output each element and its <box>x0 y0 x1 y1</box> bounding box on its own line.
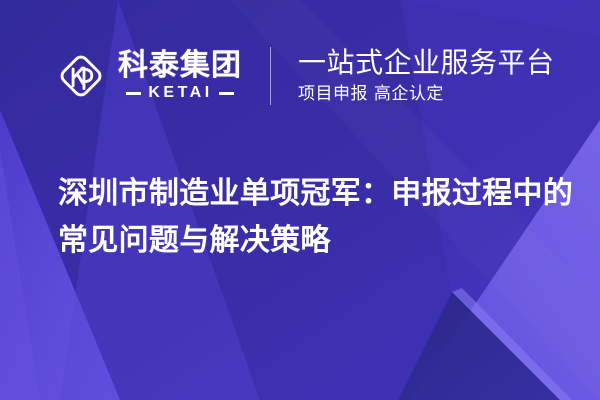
page-title: 深圳市制造业单项冠军：申报过程中的常见问题与解决策略 <box>58 170 578 264</box>
logo-latin-row: KETAI <box>118 84 242 102</box>
header-divider <box>270 47 271 105</box>
logo-dash-right <box>219 92 234 95</box>
tagline-secondary: 项目申报 高企认定 <box>298 83 555 105</box>
logo-company-name-latin: KETAI <box>141 84 218 102</box>
promo-banner: 科泰集团 KETAI 一站式企业服务平台 项目申报 高企认定 深圳市制造业单项冠… <box>0 0 600 400</box>
logo-dash-left <box>126 92 141 95</box>
tagline-primary: 一站式企业服务平台 <box>298 47 555 78</box>
banner-header: 科泰集团 KETAI 一站式企业服务平台 项目申报 高企认定 <box>55 40 555 112</box>
logo-company-name-cn: 科泰集团 <box>118 50 242 81</box>
ketai-diamond-kp-logo-icon <box>55 50 107 102</box>
tagline-block: 一站式企业服务平台 项目申报 高企认定 <box>298 47 555 104</box>
logo-wordmark: 科泰集团 KETAI <box>118 50 242 102</box>
